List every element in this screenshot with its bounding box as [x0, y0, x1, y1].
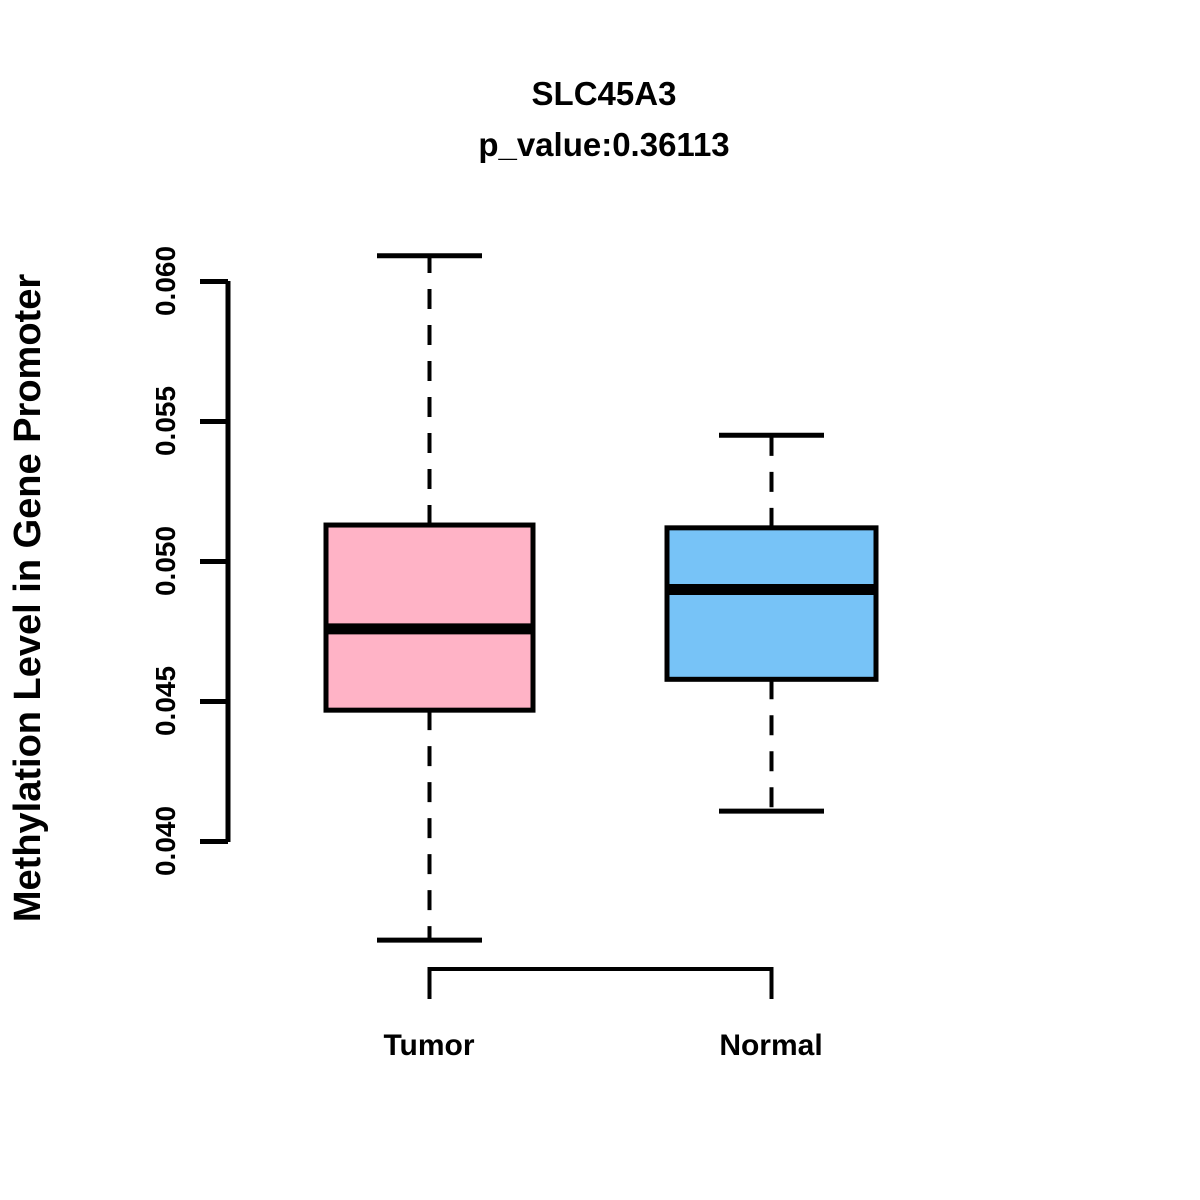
y-tick-label-0055: 0.055: [150, 386, 181, 456]
boxplot-canvas: SLC45A3 p_value:0.36113 Methylation Leve…: [0, 0, 1200, 1200]
y-tick-label-0045: 0.045: [150, 666, 181, 736]
chart-subtitle: p_value:0.36113: [478, 126, 729, 163]
y-tick-label-0050: 0.050: [150, 526, 181, 596]
boxplot-figure: SLC45A3 p_value:0.36113 Methylation Leve…: [0, 0, 1200, 1200]
normal-box[interactable]: [667, 528, 876, 679]
plot-background: [0, 0, 1200, 1200]
y-tick-label-0040: 0.040: [150, 806, 181, 876]
chart-title: SLC45A3: [532, 75, 677, 112]
y-axis-label: Methylation Level in Gene Promoter: [7, 274, 49, 922]
y-tick-label-0060: 0.060: [150, 246, 181, 316]
x-tick-label-normal: Normal: [719, 1029, 822, 1062]
x-tick-label-tumor: Tumor: [383, 1029, 474, 1062]
tumor-box[interactable]: [326, 525, 533, 710]
